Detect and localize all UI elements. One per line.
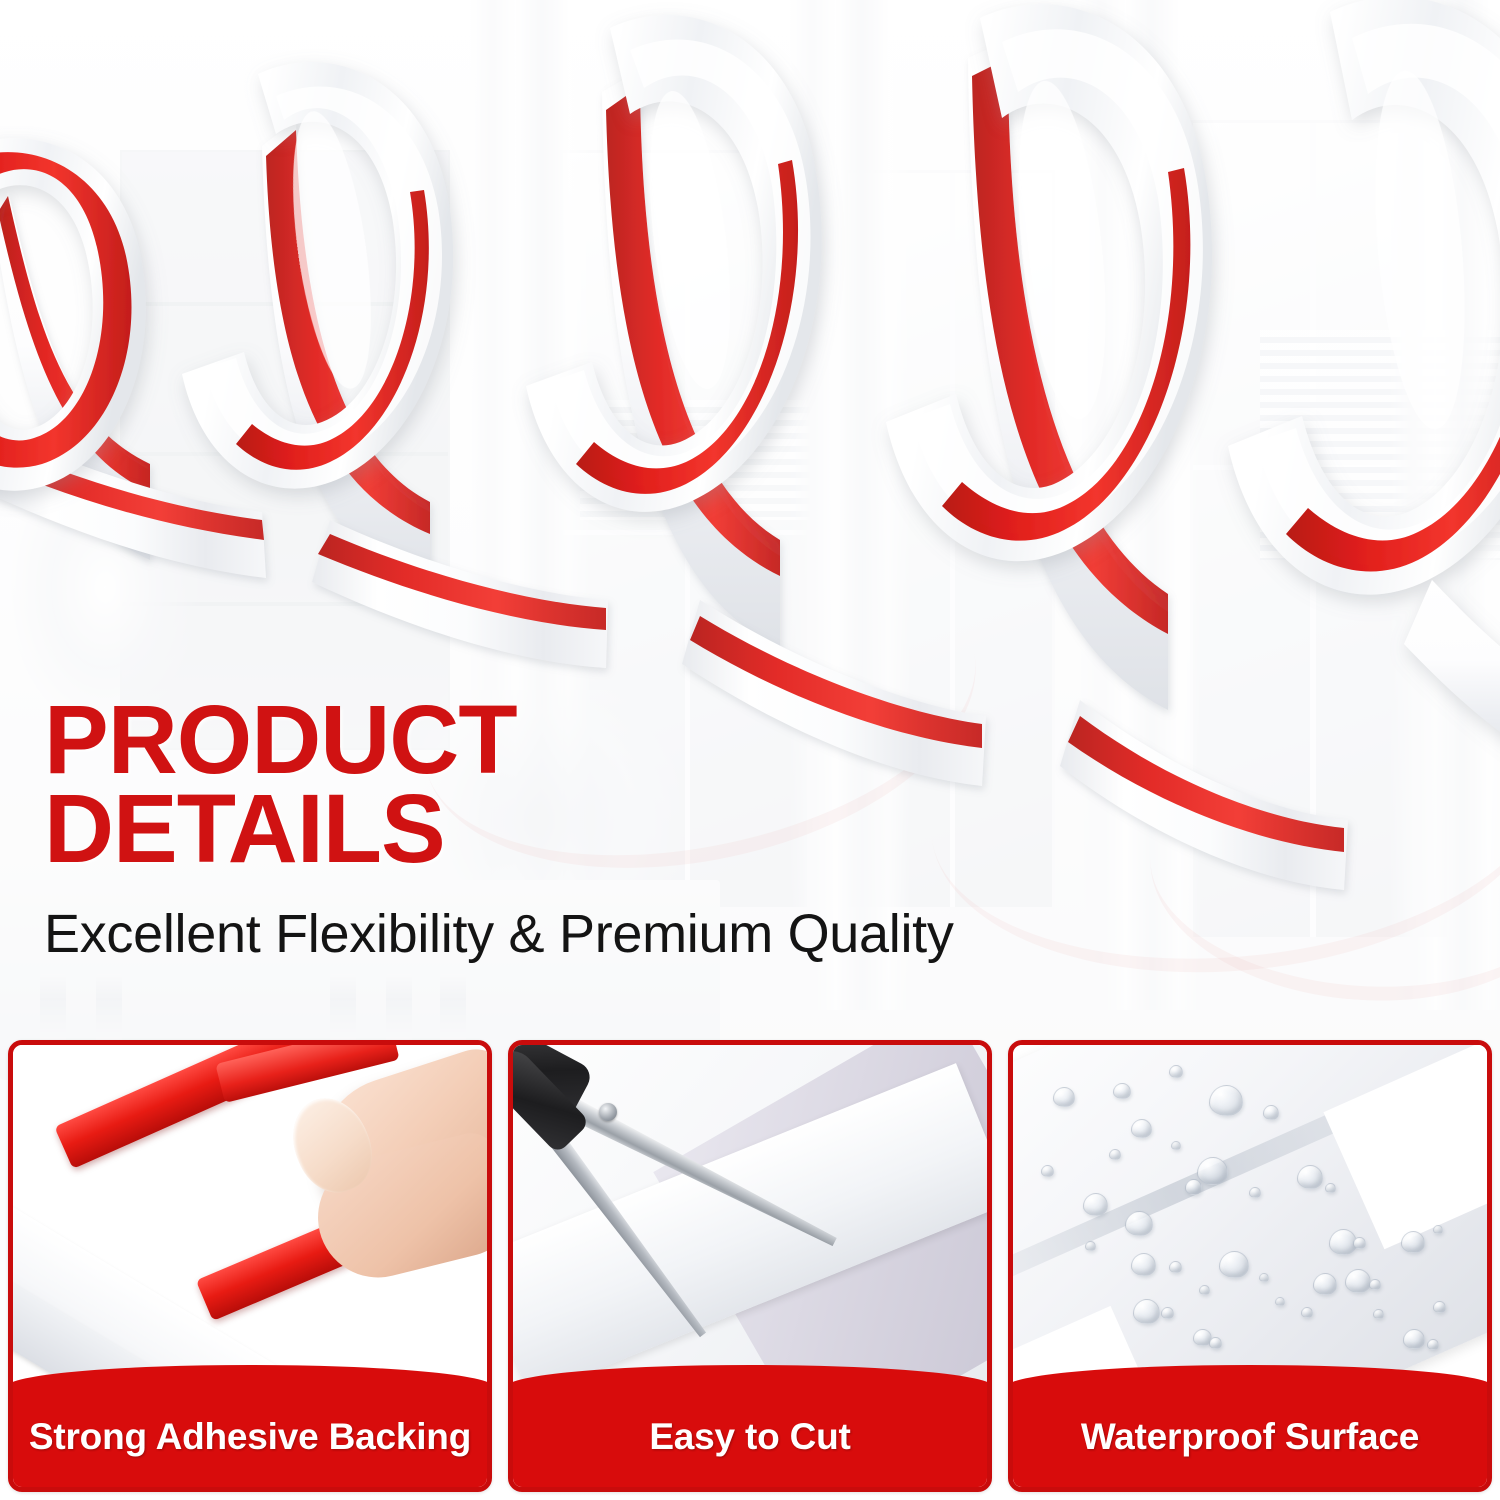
panel-caption-label: Waterproof Surface bbox=[1081, 1416, 1419, 1458]
feature-panel-cut[interactable]: Easy to Cut bbox=[508, 1040, 992, 1492]
panel-caption-bar: Strong Adhesive Backing bbox=[8, 1365, 492, 1492]
panel-caption-label: Easy to Cut bbox=[649, 1416, 850, 1458]
feature-panel-adhesive[interactable]: Strong Adhesive Backing bbox=[8, 1040, 492, 1492]
page-subtitle: Excellent Flexibility & Premium Quality bbox=[44, 903, 1224, 965]
product-detail-infographic: PRODUCT DETAILS Excellent Flexibility & … bbox=[0, 0, 1500, 1500]
feature-panel-waterproof[interactable]: Waterproof Surface bbox=[1008, 1040, 1492, 1492]
panel-caption-bar: Waterproof Surface bbox=[1008, 1365, 1492, 1492]
tape-gloss-highlights bbox=[279, 67, 1478, 433]
panel-caption-bar: Easy to Cut bbox=[508, 1365, 992, 1492]
feature-panel-row: Strong Adhesive Backing bbox=[8, 1040, 1492, 1492]
panel-caption-label: Strong Adhesive Backing bbox=[29, 1416, 471, 1458]
page-title: PRODUCT DETAILS bbox=[44, 695, 1224, 873]
headline-block: PRODUCT DETAILS Excellent Flexibility & … bbox=[44, 695, 1224, 965]
tape-coil-5 bbox=[1228, 0, 1500, 770]
